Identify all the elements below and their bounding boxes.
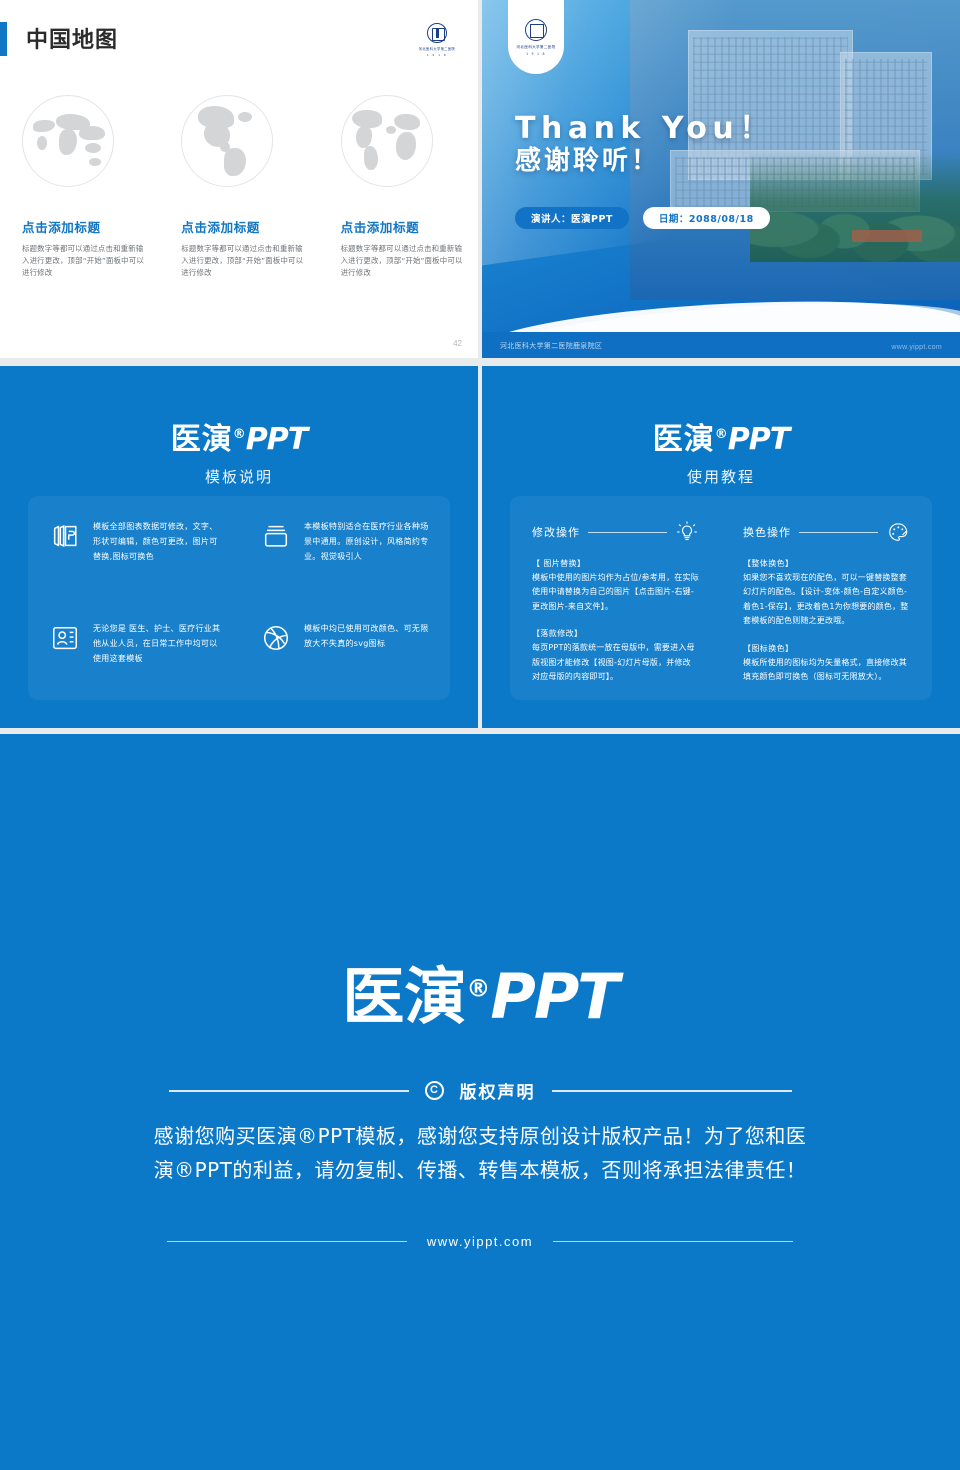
brand-logo: 医演®PPT <box>482 414 960 458</box>
crest-year: 1 9 1 8 <box>427 53 447 57</box>
globe-column-1: 点击添加标题 标题数字等都可以通过点击和重新输入进行更改，顶部“开始”面板中可以… <box>0 95 159 279</box>
slide-subtitle: 使用教程 <box>482 466 960 487</box>
page-title: 中国地图 <box>26 22 118 54</box>
title-accent-bar <box>0 22 7 56</box>
intro-card-1: 模板全部图表数据可修改，文字、形状可编辑，颜色可更改，图片可替换,图标可换色 <box>28 496 239 598</box>
block-title: 【 图片替换】 <box>532 558 699 569</box>
thank-you-chinese: 感谢聆听！ <box>515 140 660 177</box>
brand-yi: 医演 <box>342 960 466 1033</box>
globe-icon <box>181 95 273 187</box>
tutorial-block-signature-edit: 【落款修改】 每页PPT的落款统一放在母版中，需要进入母版视图才能修改【视图-幻… <box>532 628 699 684</box>
globe-icon <box>22 95 114 187</box>
footer-organization: 河北医科大学第二医院鹿泉院区 <box>500 341 602 351</box>
red-roof <box>852 230 922 242</box>
intro-panel: 模板全部图表数据可修改，文字、形状可编辑，颜色可更改，图片可替换,图标可换色 本… <box>28 496 450 700</box>
tree-line <box>750 152 960 262</box>
slide-thank-you: 河北医科大学第二医院 1 9 1 8 Thank You！ 感谢聆听！ 演讲人：… <box>482 0 960 358</box>
brand-yi: 医演 <box>653 422 715 457</box>
intro-card-1-text: 模板全部图表数据可修改，文字、形状可编辑，颜色可更改，图片可替换,图标可换色 <box>93 520 221 588</box>
tutorial-block-image-replace: 【 图片替换】 模板中使用的图片均作为占位/参考用，在实际使用中请替换为自己的图… <box>532 558 699 614</box>
block-body: 模板中使用的图片均作为占位/参考用，在实际使用中请替换为自己的图片【点击图片-右… <box>532 571 699 614</box>
globe-title-1: 点击添加标题 <box>22 217 101 236</box>
brand-registered-mark: ® <box>233 427 246 442</box>
globe-icon <box>341 95 433 187</box>
brand-ppt: PPT <box>728 422 789 457</box>
brand-ppt: PPT <box>490 960 617 1033</box>
university-crest-logo: 河北医科大学第二医院 1 9 1 8 <box>508 0 564 74</box>
copyright-icon: C <box>425 1081 444 1100</box>
date-badge: 日期：2088/08/18 <box>643 207 770 229</box>
speaker-badge: 演讲人：医演PPT <box>515 207 629 229</box>
globe-column-2: 点击添加标题 标题数字等都可以通过点击和重新输入进行更改，顶部“开始”面板中可以… <box>159 95 318 279</box>
copyright-footer-row: www.yippt.com <box>0 1234 960 1249</box>
footer-rule-left <box>167 1241 407 1242</box>
slides-canvas: 中国地图 河北医科大学第二医院 1 9 1 8 点击添加标题 标题数字等都可以通… <box>0 0 960 1470</box>
copyright-body-text: 感谢您购买医演®PPT模板，感谢您支持原创设计版权产品！为了您和医演®PPT的利… <box>150 1119 810 1188</box>
tutorial-column-recolor: 换色操作 <box>721 496 932 700</box>
id-badge-icon <box>50 623 80 653</box>
intro-card-3: 无论您是 医生、护士、医疗行业其他从业人员，在日常工作中均可以使用这套模板 <box>28 598 239 700</box>
globe-column-3: 点击添加标题 标题数字等都可以通过点击和重新输入进行更改，顶部“开始”面板中可以… <box>319 95 478 279</box>
slide-subtitle: 模板说明 <box>0 466 478 487</box>
intro-card-4-text: 模板中均已使用可改颜色、可无限放大不失真的svg图标 <box>304 622 432 690</box>
block-title: 【整体换色】 <box>743 558 910 569</box>
tutorial-panel: 修改操作 <box>510 496 932 700</box>
brand-logo-large: 医演®PPT <box>0 946 960 1036</box>
page-number: 42 <box>453 339 462 348</box>
intro-card-2-text: 本模板特别适合在医疗行业各种场景中通用。原创设计，风格简约专业。视觉吸引人 <box>304 520 432 588</box>
block-body: 每页PPT的落款统一放在母版中，需要进入母版视图才能修改【视图-幻灯片母版，并修… <box>532 641 699 684</box>
brand-registered-mark: ® <box>715 427 728 442</box>
footer-url: www.yippt.com <box>891 344 942 351</box>
block-body: 如果您不喜欢现在的配色，可以一键替换整套幻灯片的配色。【设计-变体-颜色-自定义… <box>743 571 910 629</box>
block-body: 模板所使用的图标均为矢量格式，直接修改其填充颜色即可换色（图标可无限放大）。 <box>743 656 910 685</box>
website-url: www.yippt.com <box>427 1234 533 1249</box>
slide-tutorial: 医演®PPT 使用教程 修改操作 <box>482 366 960 728</box>
header-rule <box>799 532 878 533</box>
slide-template-intro: 医演®PPT 模板说明 模板全部图表数据可修改，文字、形状可编辑，颜色可更改，图… <box>0 366 478 728</box>
brand-yi: 医演 <box>171 422 233 457</box>
meta-badges: 演讲人：医演PPT 日期：2088/08/18 <box>515 207 770 229</box>
palette-icon <box>886 520 910 544</box>
crest-name: 河北医科大学第二医院 <box>419 46 455 51</box>
heading-rule-left <box>169 1090 409 1092</box>
globe-columns: 点击添加标题 标题数字等都可以通过点击和重新输入进行更改，顶部“开始”面板中可以… <box>0 95 478 279</box>
heading-rule-right <box>552 1090 792 1092</box>
tutorial-columns: 修改操作 <box>510 496 932 700</box>
intro-card-grid: 模板全部图表数据可修改，文字、形状可编辑，颜色可更改，图片可替换,图标可换色 本… <box>28 496 450 700</box>
card-box-icon <box>261 521 291 551</box>
tutorial-recolor-header: 换色操作 <box>743 520 910 544</box>
brand-ppt: PPT <box>246 422 307 457</box>
slide-copyright: 医演®PPT C 版权声明 感谢您购买医演®PPT模板，感谢您支持原创设计版权产… <box>0 734 960 1470</box>
block-title: 【图标换色】 <box>743 643 910 654</box>
globe-title-3: 点击添加标题 <box>341 217 420 236</box>
crest-name: 河北医科大学第二医院 <box>517 45 556 50</box>
dribbble-ball-icon <box>261 623 291 653</box>
tutorial-edit-title: 修改操作 <box>532 524 580 540</box>
footer-rule-right <box>553 1241 793 1242</box>
tutorial-edit-header: 修改操作 <box>532 520 699 544</box>
university-crest-logo: 河北医科大学第二医院 1 9 1 8 <box>414 20 460 60</box>
slide-china-map: 中国地图 河北医科大学第二医院 1 9 1 8 点击添加标题 标题数字等都可以通… <box>0 0 478 358</box>
crest-year: 1 9 1 8 <box>526 52 546 56</box>
lightbulb-icon <box>675 520 699 544</box>
brand-registered-mark: ® <box>466 974 490 1002</box>
copyright-heading: 版权声明 <box>460 1078 536 1103</box>
globe-title-2: 点击添加标题 <box>181 217 260 236</box>
crest-shield-icon <box>525 19 547 41</box>
tutorial-recolor-title: 换色操作 <box>743 524 791 540</box>
book-pages-icon <box>50 521 80 551</box>
tutorial-column-edit: 修改操作 <box>510 496 721 700</box>
intro-card-2: 本模板特别适合在医疗行业各种场景中通用。原创设计，风格简约专业。视觉吸引人 <box>239 496 450 598</box>
globe-desc-3: 标题数字等都可以通过点击和重新输入进行更改，顶部“开始”面板中可以进行修改 <box>341 243 463 279</box>
crest-shield-icon <box>427 23 447 43</box>
header-rule <box>588 532 667 533</box>
block-title: 【落款修改】 <box>532 628 699 639</box>
brand-logo: 医演®PPT <box>0 414 478 458</box>
intro-card-4: 模板中均已使用可改颜色、可无限放大不失真的svg图标 <box>239 598 450 700</box>
copyright-heading-row: C 版权声明 <box>0 1078 960 1103</box>
campus-photo <box>630 0 960 300</box>
intro-card-3-text: 无论您是 医生、护士、医疗行业其他从业人员，在日常工作中均可以使用这套模板 <box>93 622 221 690</box>
tutorial-block-icon-recolor: 【图标换色】 模板所使用的图标均为矢量格式，直接修改其填充颜色即可换色（图标可无… <box>743 643 910 685</box>
globe-desc-1: 标题数字等都可以通过点击和重新输入进行更改，顶部“开始”面板中可以进行修改 <box>22 243 144 279</box>
tutorial-block-theme-recolor: 【整体换色】 如果您不喜欢现在的配色，可以一键替换整套幻灯片的配色。【设计-变体… <box>743 558 910 629</box>
globe-desc-2: 标题数字等都可以通过点击和重新输入进行更改，顶部“开始”面板中可以进行修改 <box>181 243 303 279</box>
